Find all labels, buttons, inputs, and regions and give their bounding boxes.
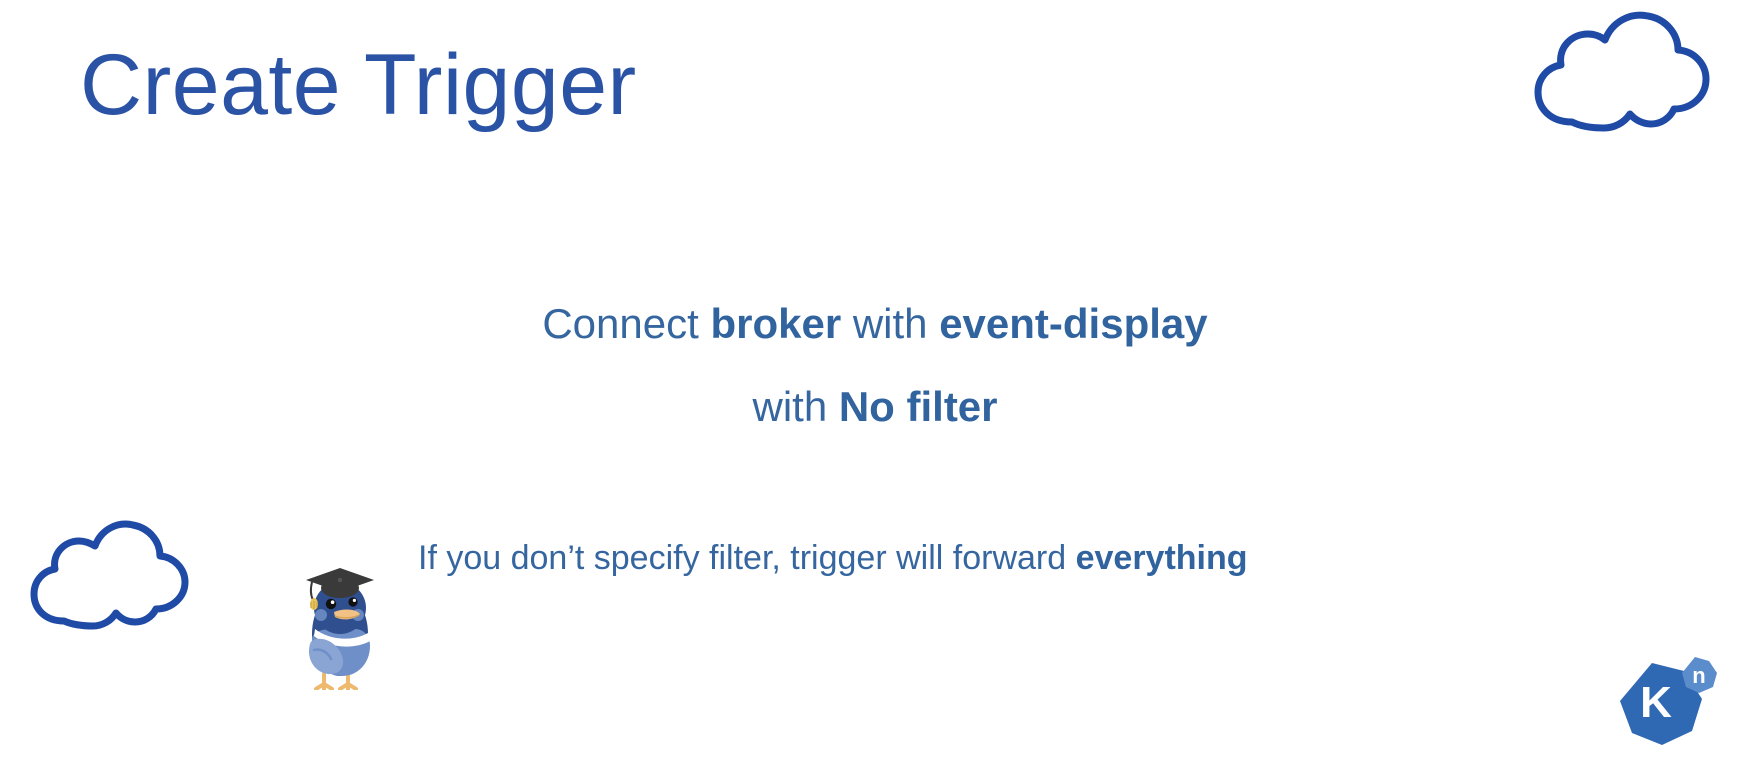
page-title: Create Trigger [80,38,637,133]
note-line-prefix: If you don’t specify filter, trigger wil… [418,539,1076,577]
slide-canvas: Create Trigger Connect broker with event… [0,0,1750,766]
filter-line: with No filter [0,383,1750,431]
bird-mascot-icon [298,562,380,690]
connect-line-target: event-display [939,300,1207,347]
cloud-icon-top-right [1520,8,1716,132]
cloud-icon-bottom-left [18,518,194,630]
note-line-emphasis: everything [1076,539,1248,577]
note-line: If you don’t specify filter, trigger wil… [418,539,1248,578]
connect-line: Connect broker with event-display [0,300,1750,348]
knative-logo-k: K [1640,678,1672,727]
connect-line-broker: broker [710,300,841,347]
knative-logo: K n [1612,655,1720,755]
filter-line-value: No filter [839,383,998,430]
filter-line-prefix: with [752,383,838,430]
connect-line-with: with [841,300,939,347]
knative-logo-n: n [1692,663,1705,688]
connect-line-prefix: Connect [542,300,710,347]
